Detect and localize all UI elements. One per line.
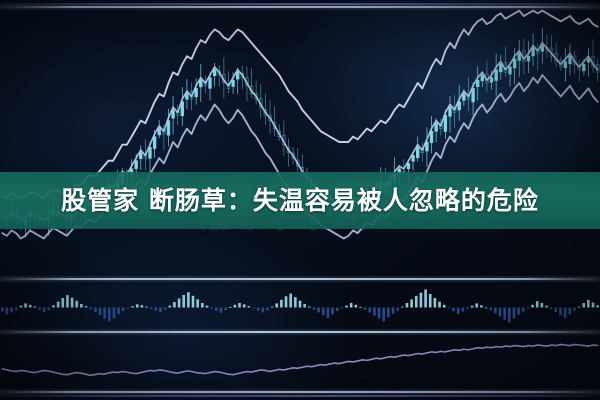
thumbnail-image: 股管家 股管家 断肠草：失温容易被人忽略的危险 (0, 0, 600, 400)
bottom-separator-rule (0, 391, 600, 393)
page-title: 股管家 断肠草：失温容易被人忽略的危险 (61, 188, 539, 213)
bottom-purple-rule (0, 395, 600, 397)
headline-banner: 股管家 断肠草：失温容易被人忽略的危险 (0, 172, 600, 229)
